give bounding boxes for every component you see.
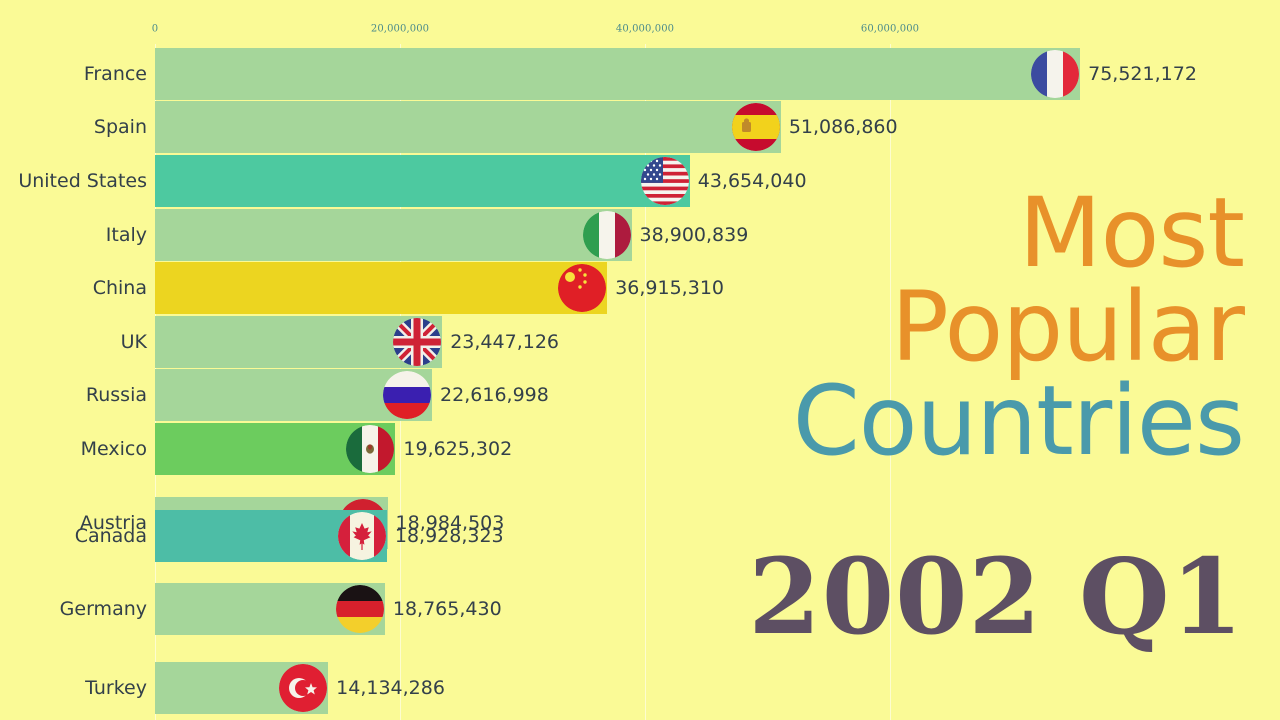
flag-united-states-icon bbox=[641, 157, 689, 205]
bar-row[interactable]: Russia22,616,998 bbox=[0, 369, 1280, 421]
flag-russia-icon bbox=[383, 371, 431, 419]
bar[interactable] bbox=[155, 101, 781, 153]
flag-mexico-icon bbox=[346, 425, 394, 473]
bar-country-label: Germany bbox=[60, 583, 147, 635]
bar-country-label: Mexico bbox=[81, 423, 147, 475]
flag-italy-icon bbox=[583, 211, 631, 259]
flag-uk-icon bbox=[393, 318, 441, 366]
bar[interactable] bbox=[155, 155, 690, 207]
flag-france-icon bbox=[1031, 50, 1079, 98]
bar-row[interactable]: Italy38,900,839 bbox=[0, 209, 1280, 261]
period-label: 2002 Q1 bbox=[748, 545, 1244, 649]
bar-value-label: 19,625,302 bbox=[403, 423, 512, 475]
bar-country-label: France bbox=[84, 48, 147, 100]
bar-row[interactable]: France75,521,172 bbox=[0, 48, 1280, 100]
bar-row[interactable]: United States43,654,040 bbox=[0, 155, 1280, 207]
flag-germany-icon bbox=[336, 585, 384, 633]
bar-row[interactable]: Spain51,086,860 bbox=[0, 101, 1280, 153]
bar-country-label: Italy bbox=[106, 209, 147, 261]
bar-value-label: 36,915,310 bbox=[615, 262, 724, 314]
chart-canvas: 020,000,00040,000,00060,000,000 France75… bbox=[0, 0, 1280, 720]
bar-value-label: 22,616,998 bbox=[440, 369, 549, 421]
bar[interactable] bbox=[155, 262, 607, 314]
flag-turkey-icon bbox=[279, 664, 327, 712]
bar-row[interactable]: Turkey14,134,286 bbox=[0, 662, 1280, 714]
bar-value-label: 18,928,323 bbox=[395, 510, 504, 562]
flag-china-icon bbox=[558, 264, 606, 312]
bar-value-label: 38,900,839 bbox=[640, 209, 749, 261]
bar-country-label: Spain bbox=[94, 101, 147, 153]
flag-canada-icon bbox=[338, 512, 386, 560]
bar-country-label: UK bbox=[121, 316, 147, 368]
bar[interactable] bbox=[155, 48, 1080, 100]
bar-country-label: Russia bbox=[86, 369, 147, 421]
flag-spain-icon bbox=[732, 103, 780, 151]
bar-value-label: 23,447,126 bbox=[450, 316, 559, 368]
bar-row[interactable]: China36,915,310 bbox=[0, 262, 1280, 314]
bar-value-label: 43,654,040 bbox=[698, 155, 807, 207]
bar-row[interactable]: UK23,447,126 bbox=[0, 316, 1280, 368]
bar-country-label: China bbox=[93, 262, 147, 314]
bar-row[interactable]: Mexico19,625,302 bbox=[0, 423, 1280, 475]
bar-value-label: 51,086,860 bbox=[789, 101, 898, 153]
bar-country-label: Canada bbox=[75, 510, 147, 562]
bar-value-label: 75,521,172 bbox=[1088, 48, 1197, 100]
bar-value-label: 18,765,430 bbox=[393, 583, 502, 635]
bar-value-label: 14,134,286 bbox=[336, 662, 445, 714]
bar-country-label: Turkey bbox=[85, 662, 147, 714]
bar[interactable] bbox=[155, 209, 632, 261]
bar-country-label: United States bbox=[18, 155, 147, 207]
